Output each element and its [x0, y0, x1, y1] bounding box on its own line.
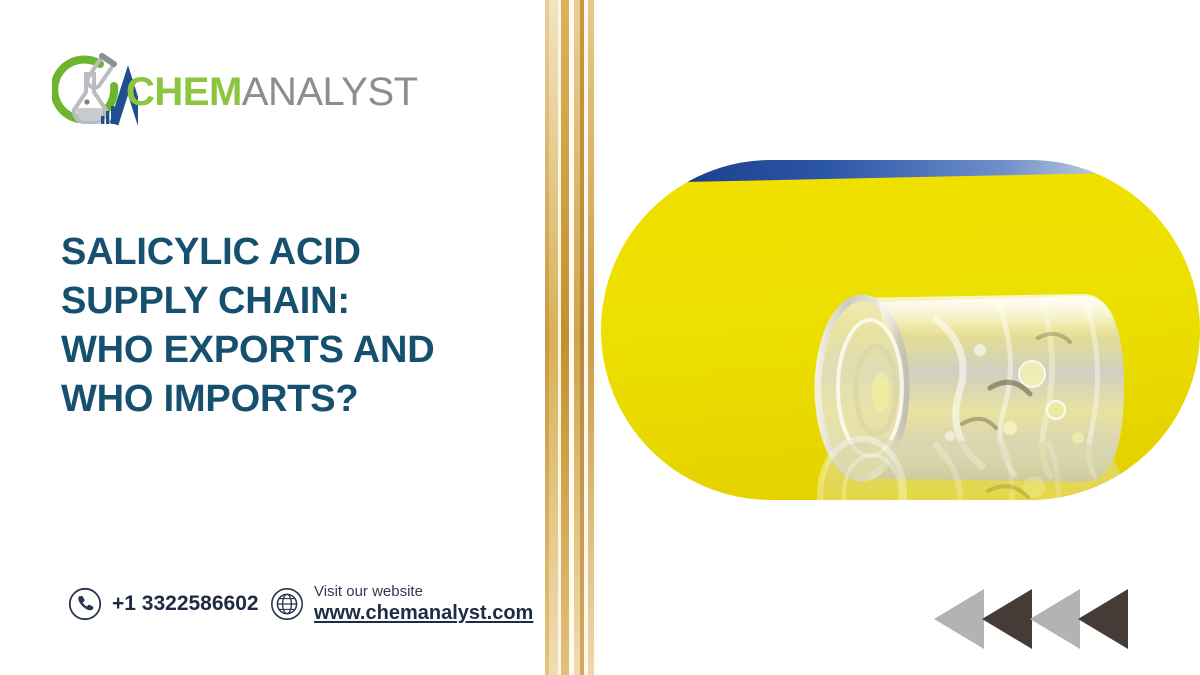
- contact-phone[interactable]: +1 3322586602: [68, 587, 259, 621]
- arrow-3: [1030, 589, 1080, 649]
- phone-number: +1 3322586602: [112, 592, 259, 616]
- title-line-3: WHO EXPORTS AND: [61, 326, 531, 375]
- arrow-1: [934, 589, 984, 649]
- arrow-4: [1078, 589, 1128, 649]
- salicylic-acid-product-photo: [601, 160, 1200, 500]
- brand-name-chem: CHEM: [126, 70, 242, 114]
- arrow-2: [982, 589, 1032, 649]
- page-title: SALICYLIC ACID SUPPLY CHAIN: WHO EXPORTS…: [61, 228, 531, 424]
- title-line-2: SUPPLY CHAIN:: [61, 277, 531, 326]
- brand-logo-wordmark: CHEMANALYST: [126, 68, 418, 116]
- hero-blue-gradient-bar: [683, 160, 1200, 182]
- brand-logo[interactable]: CHEMANALYST: [52, 52, 392, 132]
- phone-icon: [68, 587, 102, 621]
- title-line-1: SALICYLIC ACID: [61, 228, 531, 277]
- brand-name-analyst: ANALYST: [242, 70, 418, 114]
- left-chevron-arrows: [934, 589, 1128, 649]
- glass-jar-reflection: [784, 435, 1134, 500]
- website-url[interactable]: www.chemanalyst.com: [314, 601, 533, 626]
- contact-website[interactable]: Visit our website www.chemanalyst.com: [270, 582, 533, 626]
- website-text-block: Visit our website www.chemanalyst.com: [314, 582, 533, 626]
- globe-icon: [270, 587, 304, 621]
- title-line-4: WHO IMPORTS?: [61, 375, 531, 424]
- poster-canvas: CHEMANALYST SALICYLIC ACID SUPPLY CHAIN:…: [0, 0, 1200, 675]
- chemanalyst-mark-small-icon: [1146, 166, 1168, 184]
- gold-vertical-stripes: [545, 0, 597, 675]
- website-label: Visit our website: [314, 582, 533, 601]
